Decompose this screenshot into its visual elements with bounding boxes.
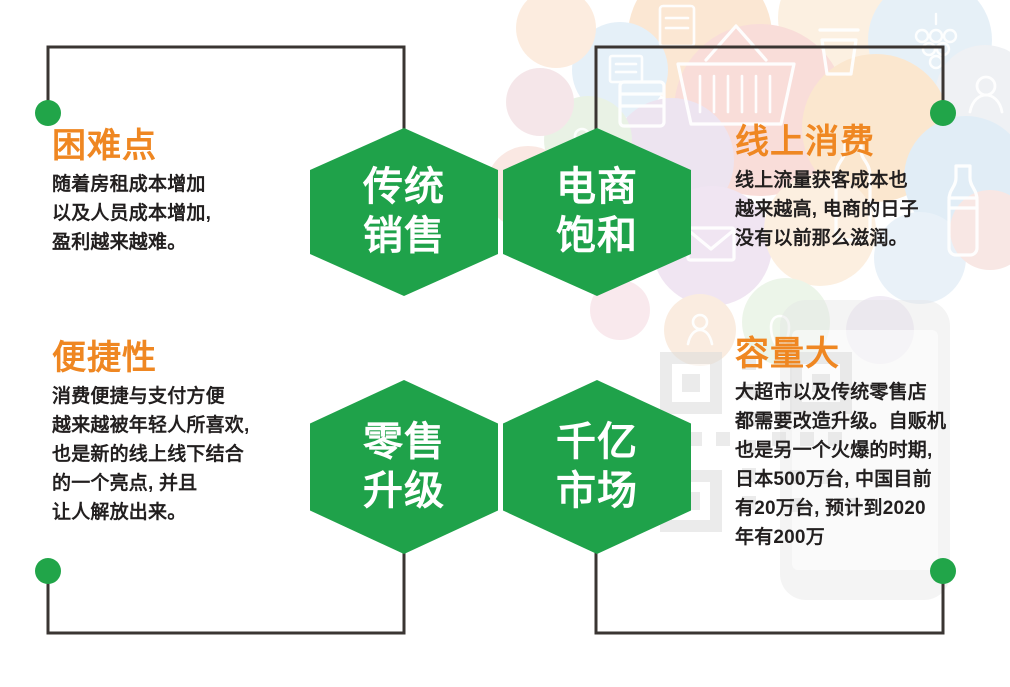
- hexagon-line-2: 饱和: [556, 212, 638, 261]
- text-block-online-consumption: 线上消费 线上流量获客成本也 越来越高, 电商的日子 没有以前那么滋润。: [735, 124, 1003, 254]
- block-heading: 困难点: [52, 128, 322, 165]
- block-body: 大超市以及传统零售店 都需要改造升级。自贩机 也是另一个火爆的时期, 日本500…: [735, 379, 1007, 552]
- block-heading: 线上消费: [735, 124, 1003, 161]
- dot-top-right: [930, 100, 956, 126]
- connector-bottom-right: [596, 552, 943, 633]
- hexagon-line-1: 千亿: [556, 418, 638, 467]
- infographic-canvas: 传统 销售 电商 饱和 零售 升级 千亿 市场 困难点 随着房租成本增加 以及人…: [0, 0, 1010, 687]
- dot-bottom-left: [35, 558, 61, 584]
- text-block-large-capacity: 容量大 大超市以及传统零售店 都需要改造升级。自贩机 也是另一个火爆的时期, 日…: [735, 336, 1007, 553]
- block-body: 消费便捷与支付方便 越来越被年轻人所喜欢, 也是新的线上线下结合 的一个亮点, …: [52, 383, 342, 527]
- hexagon-line-2: 销售: [363, 212, 445, 261]
- hexagon-line-2: 升级: [363, 467, 445, 516]
- block-body: 随着房租成本增加 以及人员成本增加, 盈利越来越难。: [52, 171, 322, 258]
- dot-bottom-right: [930, 558, 956, 584]
- dot-top-left: [35, 100, 61, 126]
- hexagon-line-1: 电商: [556, 163, 638, 212]
- connector-top-right: [596, 47, 943, 132]
- hexagon-line-1: 传统: [363, 163, 445, 212]
- connector-bottom-left: [48, 552, 404, 633]
- block-heading: 便捷性: [52, 340, 342, 377]
- hexagon-line-1: 零售: [363, 418, 445, 467]
- text-block-convenience: 便捷性 消费便捷与支付方便 越来越被年轻人所喜欢, 也是新的线上线下结合 的一个…: [52, 340, 342, 528]
- block-body: 线上流量获客成本也 越来越高, 电商的日子 没有以前那么滋润。: [735, 167, 1003, 254]
- hexagon-line-2: 市场: [556, 467, 638, 516]
- connector-top-left: [48, 47, 404, 132]
- block-heading: 容量大: [735, 336, 1007, 373]
- text-block-difficulty: 困难点 随着房租成本增加 以及人员成本增加, 盈利越来越难。: [52, 128, 322, 258]
